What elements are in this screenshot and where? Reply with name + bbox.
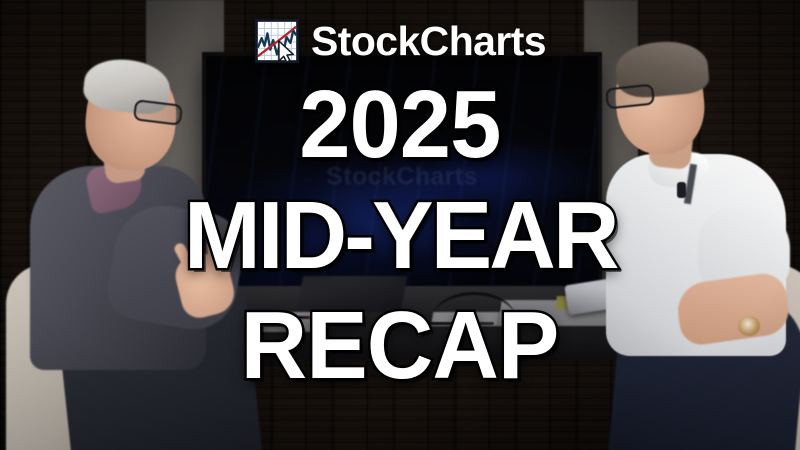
headline-line-recap: RECAP <box>241 307 559 386</box>
stockcharts-wordmark: StockCharts <box>311 21 546 62</box>
headline-line-midyear: MID-YEAR <box>184 197 617 276</box>
headline-line-year: 2025 <box>299 86 500 165</box>
stockcharts-logo[interactable]: StockCharts <box>0 18 800 64</box>
stockcharts-chart-cursor-icon <box>254 18 300 64</box>
video-thumbnail: StockCharts <box>0 0 800 450</box>
headline-block: 2025 MID-YEAR RECAP <box>0 86 800 386</box>
